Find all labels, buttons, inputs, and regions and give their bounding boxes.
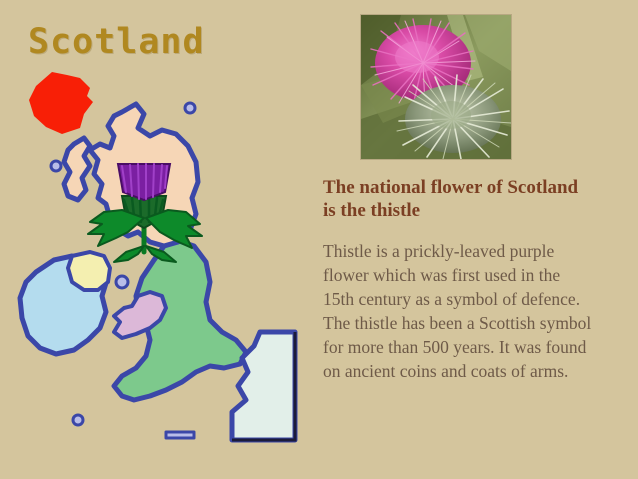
content-paragraph: Thistle is a prickly-leaved purple flowe… [323,239,595,383]
content-heading: The national flower of Scotland is the t… [323,176,581,222]
map-region-northern-ireland [68,252,110,290]
map-island-outer-hebrides [64,138,90,200]
text-column: The national flower of Scotland is the t… [323,176,623,383]
map-island-dot-shetland [185,103,195,113]
british-isles-map [10,100,305,472]
map-island-isle-of-wight [166,432,194,438]
map-island-dot-isle-of-man [116,276,128,288]
page-title: Scotland [28,22,205,62]
map-island-dot-scilly [73,415,83,425]
map-island-dot-west [51,161,61,171]
thistle-photograph [360,14,512,160]
presentation-slide: Scotland [0,0,638,479]
